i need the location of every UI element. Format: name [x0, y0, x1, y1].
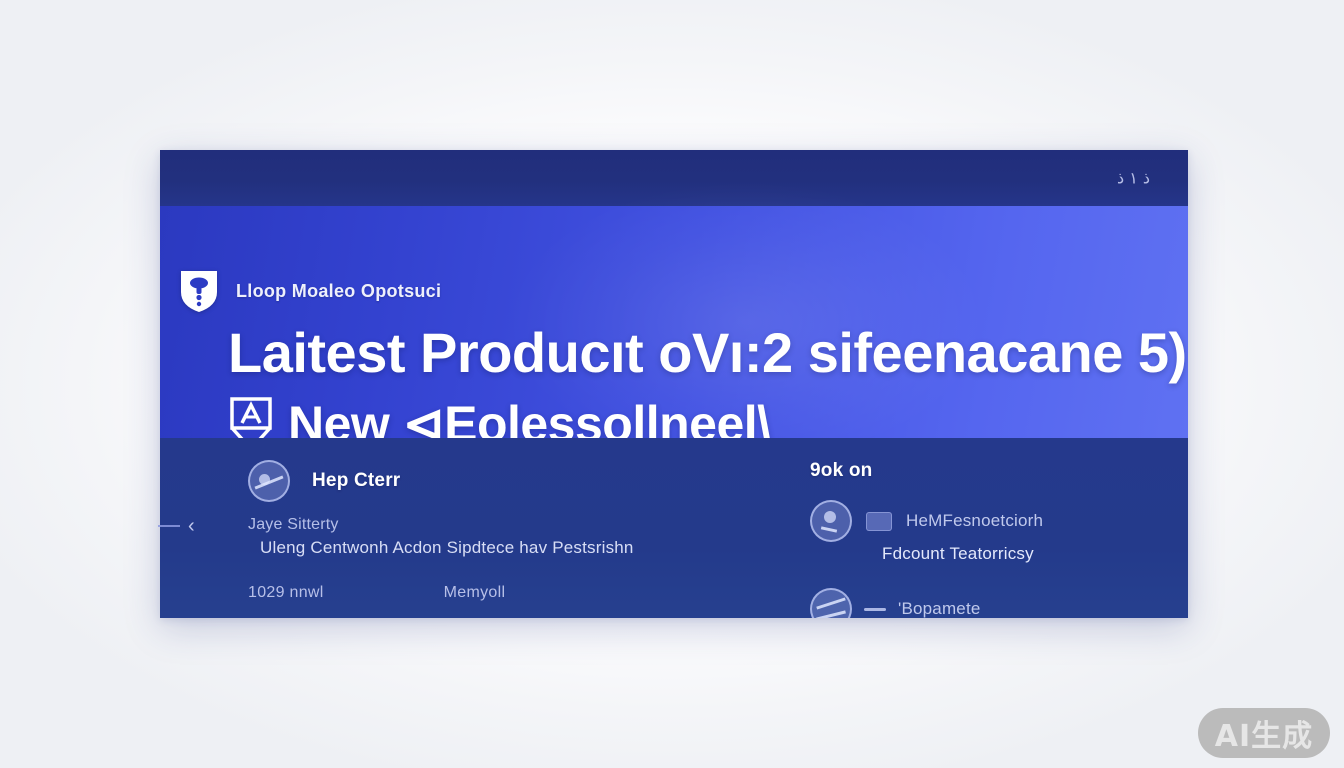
card-top-bar: ذ ١ ذ — [160, 150, 1188, 206]
ai-generated-watermark: AI生成 — [1198, 708, 1330, 758]
carousel-rail — [158, 525, 180, 527]
hero-gradient-band: Lloop Moaleo Opotsuci Laitest Producıt o… — [160, 206, 1188, 438]
hero-content: Lloop Moaleo Opotsuci Laitest Producıt o… — [160, 206, 1188, 438]
left-meta-count: 1029 nnwl — [248, 584, 324, 602]
globe-circle-icon — [810, 588, 852, 618]
right-row-1-text: HeMFesnoetciorh — [906, 511, 1043, 531]
chip-block-icon — [866, 512, 892, 531]
right-row-2[interactable]: 'Bopamete — [810, 588, 1188, 618]
left-column-heading: Hep Cterr — [312, 470, 400, 492]
screen-root: ذ ١ ذ Lloop Moaleo Opotsuci Laitest Prod… — [0, 0, 1344, 768]
info-column-right: 9ok on HeMFesnoetciorh Fdcount Teatorric… — [760, 438, 1188, 618]
right-row-1-subtext: Fdcount Teatorricsy — [882, 544, 1188, 564]
carousel-prev-button[interactable]: ‹ — [158, 510, 218, 542]
clock-circle-icon — [248, 460, 290, 502]
brand-name-label: Lloop Moaleo Opotsuci — [236, 281, 441, 302]
left-meta-row: 1029 nnwl Memyoll — [248, 584, 760, 602]
headset-circle-icon — [810, 500, 852, 542]
brand-row[interactable]: Lloop Moaleo Opotsuci — [178, 268, 441, 314]
info-column-left: Hep Cterr Jaye Sitterty Uleng Centwonh A… — [160, 438, 760, 618]
left-sub-line-2: Uleng Centwonh Acdon Sipdtece hav Pestsr… — [260, 538, 760, 558]
right-row-1[interactable]: HeMFesnoetciorh — [810, 500, 1188, 542]
left-sub-line-1: Jaye Sitterty — [248, 516, 760, 534]
shield-logo-icon — [178, 268, 220, 314]
left-meta-label: Memyoll — [444, 584, 506, 602]
dash-divider-icon — [864, 608, 886, 611]
right-row-2-text: 'Bopamete — [898, 599, 981, 618]
info-panel: Hep Cterr Jaye Sitterty Uleng Centwonh A… — [160, 438, 1188, 618]
right-column-heading: 9ok on — [810, 460, 1188, 482]
left-column-header-row[interactable]: Hep Cterr — [248, 460, 760, 502]
hero-headline-line-1: Laitest Producıt oVı:2 sifeenacane 5) — [228, 324, 1187, 383]
chevron-left-icon: ‹ — [188, 516, 195, 536]
info-columns: Hep Cterr Jaye Sitterty Uleng Centwonh A… — [160, 438, 1188, 618]
topbar-status-glyphs: ذ ١ ذ — [1117, 169, 1150, 188]
promo-banner-card[interactable]: ذ ١ ذ Lloop Moaleo Opotsuci Laitest Prod… — [160, 150, 1188, 618]
